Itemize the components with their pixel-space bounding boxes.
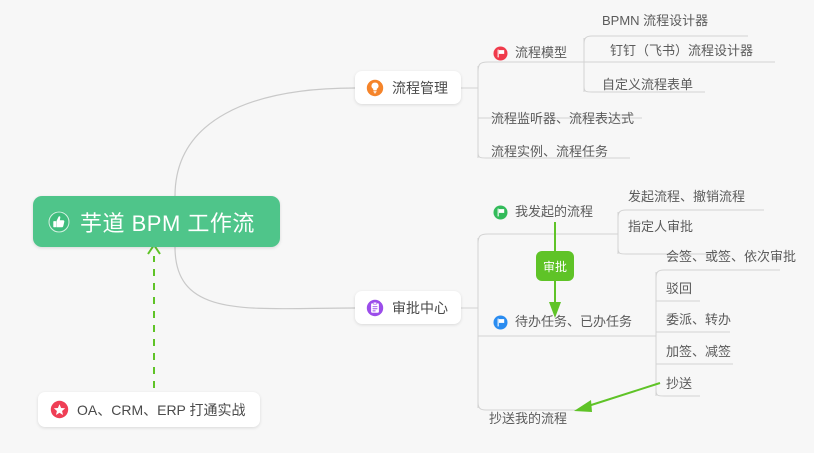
link-ac-to-my-initiated bbox=[478, 234, 605, 244]
node-cc[interactable]: 抄送 bbox=[666, 375, 692, 395]
node-start-cancel-process[interactable]: 发起流程、撤销流程 bbox=[628, 188, 745, 208]
node-todo-done-tasks[interactable]: 待办任务、已办任务 bbox=[493, 313, 632, 333]
node-integration-note[interactable]: OA、CRM、ERP 打通实战 bbox=[38, 392, 260, 427]
node-countersign[interactable]: 会签、或签、依次审批 bbox=[666, 248, 796, 268]
annotation-approval-chip: 审批 bbox=[536, 251, 574, 281]
node-my-initiated-label: 我发起的流程 bbox=[515, 203, 593, 221]
thumbs-up-icon bbox=[47, 210, 71, 234]
flag-blue-icon bbox=[493, 315, 508, 330]
node-approval-center-label: 审批中心 bbox=[392, 298, 448, 318]
node-assignee-approval[interactable]: 指定人审批 bbox=[628, 218, 693, 238]
node-todo-done-tasks-label: 待办任务、已办任务 bbox=[515, 313, 632, 331]
node-approval-center[interactable]: 审批中心 bbox=[355, 291, 461, 324]
node-custom-process-form[interactable]: 自定义流程表单 bbox=[602, 76, 693, 96]
link-root-to-approval-center bbox=[175, 247, 355, 309]
node-process-management[interactable]: 流程管理 bbox=[355, 71, 461, 104]
node-integration-note-label: OA、CRM、ERP 打通实战 bbox=[77, 400, 246, 420]
node-instance-task[interactable]: 流程实例、流程任务 bbox=[491, 143, 608, 163]
node-process-management-label: 流程管理 bbox=[392, 78, 448, 98]
node-reject[interactable]: 驳回 bbox=[666, 280, 692, 300]
node-bpmn-designer[interactable]: BPMN 流程设计器 bbox=[602, 12, 708, 32]
node-process-model[interactable]: 流程模型 bbox=[493, 44, 567, 64]
node-cc-to-me[interactable]: 抄送我的流程 bbox=[489, 410, 567, 430]
node-delegate-transfer[interactable]: 委派、转办 bbox=[666, 311, 731, 331]
node-dingtalk-feishu-designer[interactable]: 钉钉（飞书）流程设计器 bbox=[610, 42, 753, 62]
mindmap-canvas: 芋道 BPM 工作流 流程管理 审批中心 bbox=[0, 0, 814, 453]
annotation-approval-chip-label: 审批 bbox=[543, 258, 567, 275]
flag-red-icon bbox=[493, 46, 508, 61]
node-process-model-label: 流程模型 bbox=[515, 44, 567, 62]
node-add-remove-sign[interactable]: 加签、减签 bbox=[666, 343, 731, 363]
star-icon bbox=[50, 400, 69, 419]
arrow-cc-to-ccme-head bbox=[574, 400, 592, 412]
link-td-to-countersign bbox=[656, 270, 780, 278]
node-my-initiated[interactable]: 我发起的流程 bbox=[493, 203, 593, 223]
lightbulb-icon bbox=[366, 79, 384, 97]
root-node-label: 芋道 BPM 工作流 bbox=[80, 206, 255, 238]
link-ac-to-ccme bbox=[478, 402, 588, 410]
link-mi-to-start-cancel bbox=[618, 210, 764, 218]
flag-green-icon bbox=[493, 205, 508, 220]
arrow-cc-to-ccme-shaft bbox=[585, 383, 660, 407]
node-listener-expression[interactable]: 流程监听器、流程表达式 bbox=[491, 110, 634, 130]
root-node[interactable]: 芋道 BPM 工作流 bbox=[33, 196, 280, 247]
clipboard-icon bbox=[366, 299, 384, 317]
link-root-to-process-management bbox=[175, 88, 355, 196]
